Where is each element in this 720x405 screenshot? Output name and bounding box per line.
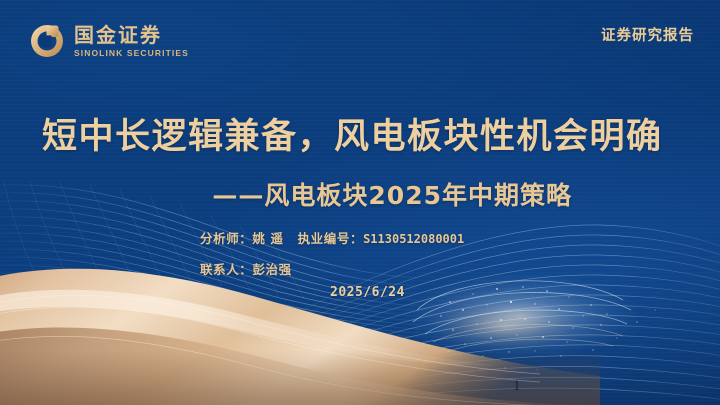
credits-block: 分析师：姚 遥执业编号：S1130512080001 联系人：彭治强 <box>200 228 464 278</box>
license-number: S1130512080001 <box>363 232 464 246</box>
slide-main-title: 短中长逻辑兼备，风电板块性机会明确 <box>42 108 663 159</box>
report-date: 2025/6/24 <box>330 285 405 300</box>
slide-subtitle: ——风电板块2025年中期策略 <box>212 176 572 212</box>
logo-chinese-name: 国金证券 <box>74 25 189 45</box>
contact-name: 彭治强 <box>252 262 291 277</box>
brand-logo: 国金证券 SINOLINK SECURITIES <box>29 23 189 59</box>
analyst-line: 分析师：姚 遥执业编号：S1130512080001 <box>200 228 464 247</box>
contact-label: 联系人： <box>200 262 252 277</box>
analyst-name: 姚 遥 <box>252 231 283 246</box>
presentation-slide: 国金证券 SINOLINK SECURITIES 证券研究报告 短中长逻辑兼备，… <box>0 0 720 405</box>
analyst-label: 分析师： <box>200 231 252 246</box>
slide-header: 国金证券 SINOLINK SECURITIES 证券研究报告 <box>0 0 720 78</box>
license-label: 执业编号： <box>298 231 364 246</box>
contact-line: 联系人：彭治强 <box>200 259 464 278</box>
logo-english-name: SINOLINK SECURITIES <box>74 49 189 58</box>
sinolink-ring-icon <box>29 23 65 59</box>
page-number: 1 <box>513 378 521 395</box>
report-type-label: 证券研究报告 <box>601 24 694 45</box>
